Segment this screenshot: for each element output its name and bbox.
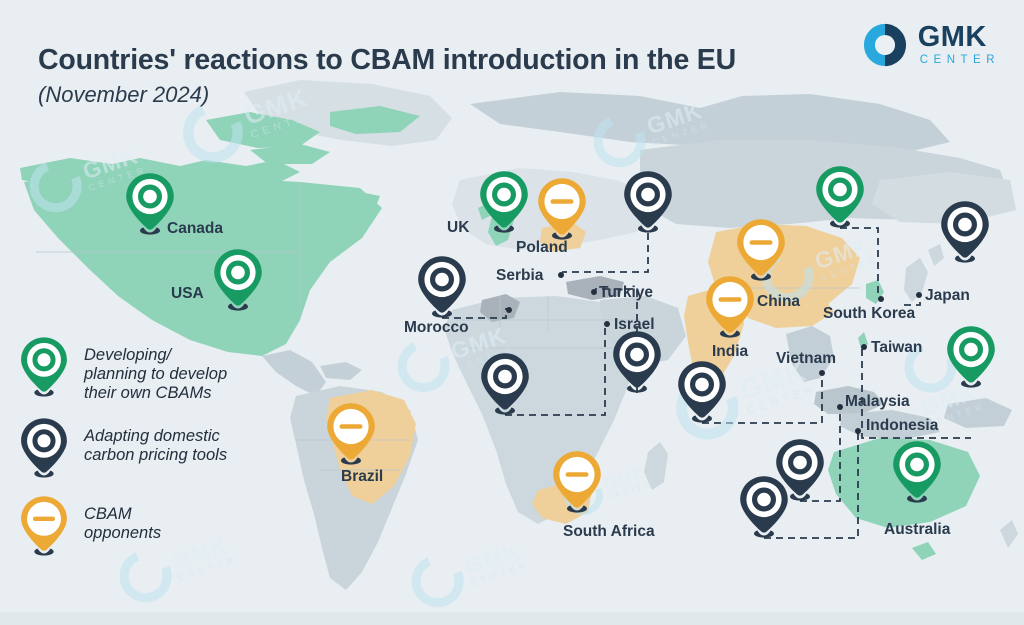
country-dot-japan xyxy=(916,292,922,298)
country-label-indonesia: Indonesia xyxy=(866,417,938,435)
country-label-canada: Canada xyxy=(167,220,223,238)
legend-item-adapting[interactable]: Adapting domestic carbon pricing tools xyxy=(18,417,288,481)
country-label-china: China xyxy=(757,293,800,311)
country-dot-serbia xyxy=(558,272,564,278)
legend: Developing/ planning to develop their ow… xyxy=(18,336,288,573)
country-dot-morocco xyxy=(506,307,512,313)
country-label-turkiye: Turkiye xyxy=(599,284,653,302)
map-pin-south-africa[interactable] xyxy=(550,450,604,516)
country-label-south-korea: South Korea xyxy=(823,305,915,323)
header: Countries' reactions to CBAM introductio… xyxy=(0,0,1024,96)
logo-subwordmark: CENTER xyxy=(920,55,1000,67)
legend-label-opponents: CBAM opponents xyxy=(84,495,161,543)
map-pin-brazil[interactable] xyxy=(324,402,378,468)
country-label-morocco: Morocco xyxy=(404,319,469,337)
map-pin-poland[interactable] xyxy=(535,177,589,243)
country-dot-indonesia xyxy=(855,428,861,434)
map-pin-vietnam[interactable] xyxy=(675,360,729,426)
country-label-australia: Australia xyxy=(884,521,950,539)
country-dot-taiwan xyxy=(861,344,867,350)
country-label-usa: USA xyxy=(171,285,204,303)
country-label-malaysia: Malaysia xyxy=(845,393,910,411)
legend-label-developing: Developing/ planning to develop their ow… xyxy=(84,336,227,403)
map-pin-australia[interactable] xyxy=(890,440,944,506)
map-pin-serbia[interactable] xyxy=(621,170,675,236)
map-pin-taiwan[interactable] xyxy=(944,325,998,391)
country-label-israel: Israel xyxy=(614,316,655,334)
country-label-brazil: Brazil xyxy=(341,468,383,486)
country-dot-malaysia xyxy=(837,404,843,410)
country-dot-south-korea xyxy=(878,296,884,302)
country-label-japan: Japan xyxy=(925,287,970,305)
legend-item-developing[interactable]: Developing/ planning to develop their ow… xyxy=(18,336,288,403)
country-dot-turkiye xyxy=(591,289,597,295)
infographic-canvas: GMKCENTERGMKCENTERGMKCENTERGMKCENTERGMKC… xyxy=(0,0,1024,625)
map-pin-india[interactable] xyxy=(703,275,757,341)
page-title: Countries' reactions to CBAM introductio… xyxy=(38,44,736,77)
country-dot-israel xyxy=(604,321,610,327)
map-pin-morocco[interactable] xyxy=(415,255,469,321)
map-pin-israel[interactable] xyxy=(478,352,532,418)
gmk-donut-icon xyxy=(862,22,908,68)
page-subtitle: (November 2024) xyxy=(38,82,209,108)
country-label-india: India xyxy=(712,343,748,361)
map-pin-indonesia[interactable] xyxy=(737,475,791,541)
map-pin-japan[interactable] xyxy=(938,200,992,266)
country-label-poland: Poland xyxy=(516,239,568,257)
legend-ring-pin-icon xyxy=(18,336,70,400)
legend-item-opponents[interactable]: CBAM opponents xyxy=(18,495,288,559)
gmk-center-logo: GMK CENTER xyxy=(862,22,1000,68)
country-label-south-africa: South Africa xyxy=(563,523,655,541)
map-pin-uk[interactable] xyxy=(477,170,531,236)
country-label-uk: UK xyxy=(447,219,469,237)
legend-ring-pin-icon xyxy=(18,417,70,481)
legend-label-adapting: Adapting domestic carbon pricing tools xyxy=(84,417,227,465)
country-dot-vietnam xyxy=(819,370,825,376)
legend-minus-pin-icon xyxy=(18,495,70,559)
map-pin-usa[interactable] xyxy=(211,248,265,314)
country-label-vietnam: Vietnam xyxy=(776,350,836,368)
country-label-taiwan: Taiwan xyxy=(871,339,922,357)
country-label-serbia: Serbia xyxy=(496,267,543,285)
map-pin-turkiye[interactable] xyxy=(610,330,664,396)
logo-wordmark: GMK xyxy=(918,23,1000,52)
map-pin-south-korea[interactable] xyxy=(813,165,867,231)
